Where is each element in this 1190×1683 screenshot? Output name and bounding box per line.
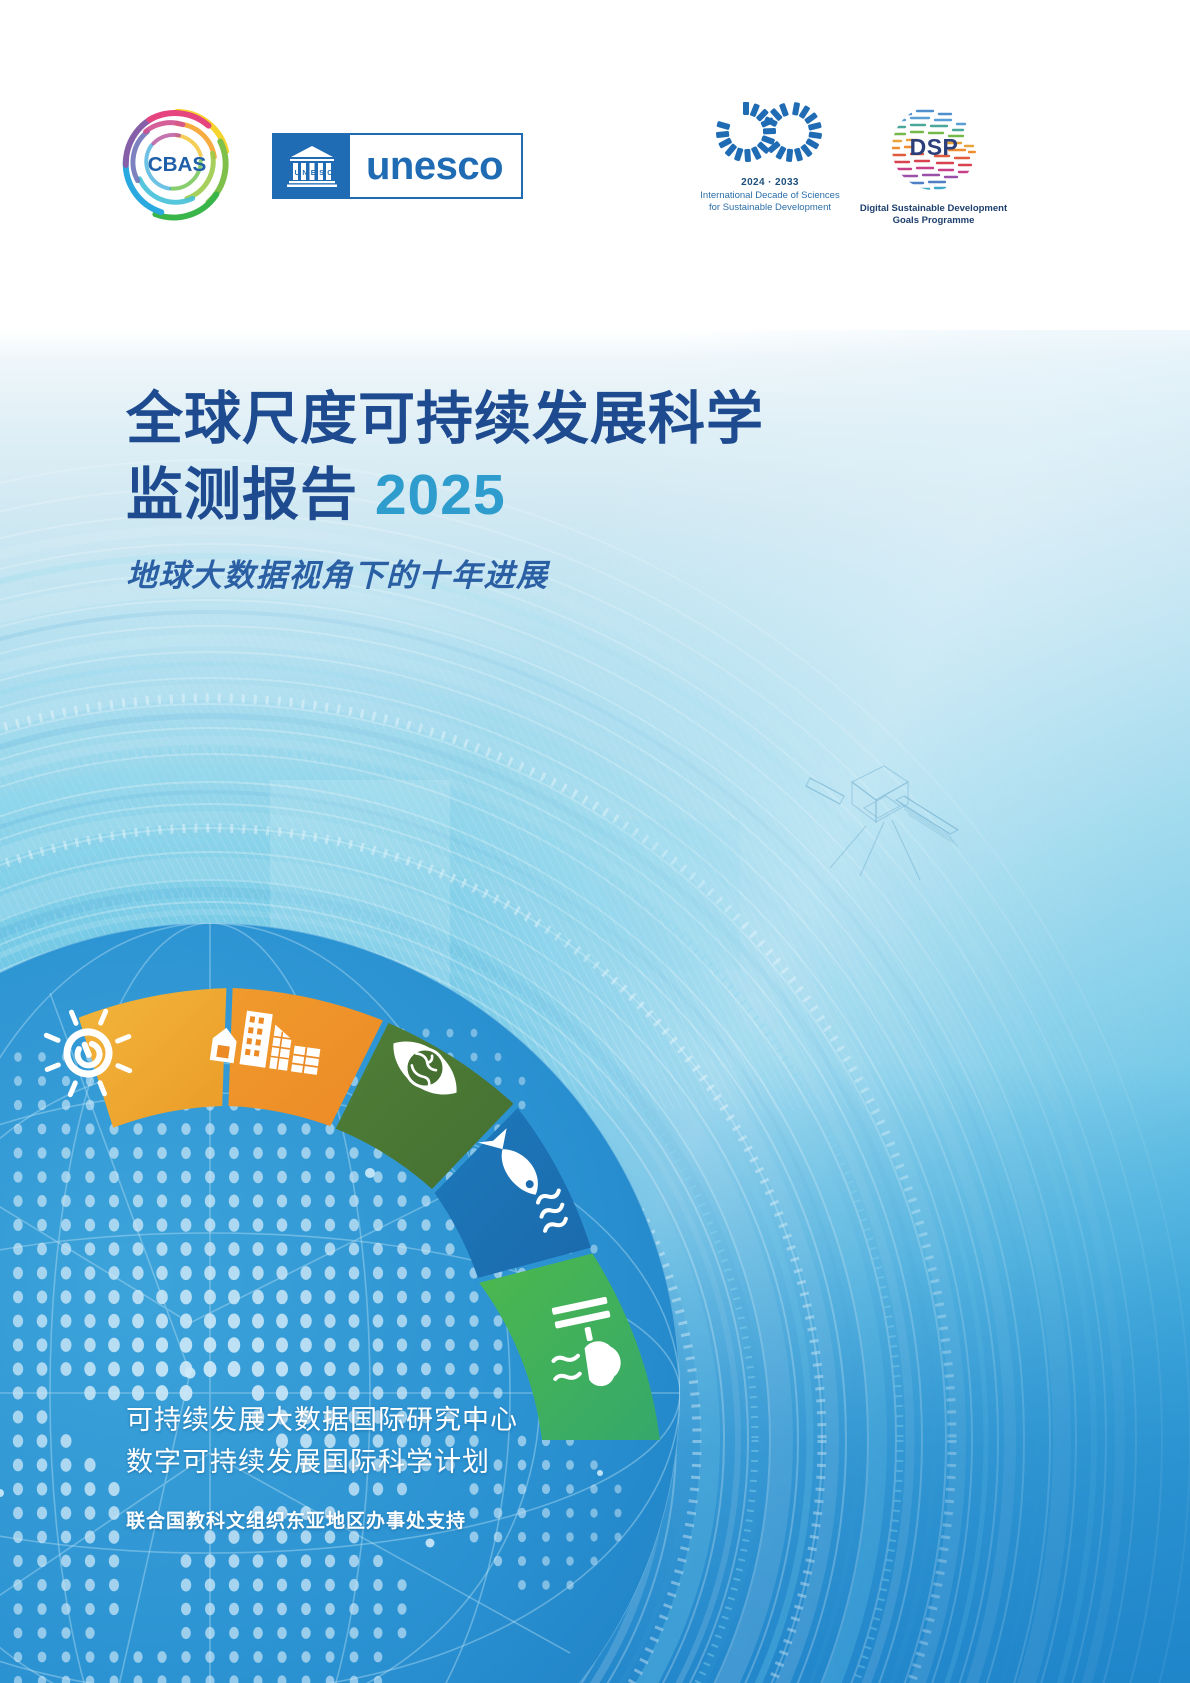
logo-bar: CBAS: [0, 0, 1190, 330]
cbas-label: CBAS: [148, 153, 207, 176]
footer-org-line2: 数字可持续发展国际科学计划: [126, 1442, 826, 1484]
page-title-year: 2025: [375, 463, 506, 527]
svg-text:C: C: [327, 170, 332, 177]
decade-infinity-rays-icon: [700, 96, 840, 168]
decade-years: 2024 · 2033: [700, 177, 840, 188]
unesco-temple-icon: UNE SC: [274, 135, 350, 197]
dsp-logo: DSP Digital Sustainable Development Goal…: [846, 100, 1021, 227]
background-bottom-blue: [0, 1063, 1190, 1683]
svg-text:U: U: [295, 170, 300, 177]
dsp-caption: Digital Sustainable Development Goals Pr…: [846, 203, 1021, 227]
page-title-line1: 全球尺度可持续发展科学: [126, 382, 1026, 458]
dsp-mark: DSP: [909, 134, 958, 160]
title-block: 全球尺度可持续发展科学 监测报告 2025 地球大数据视角下的十年进展: [126, 382, 1026, 595]
footer-block: 可持续发展大数据国际研究中心 数字可持续发展国际科学计划 联合国教科文组织东亚地…: [126, 1400, 826, 1533]
page-title-line2-text: 监测报告: [126, 463, 358, 527]
decade-caption: International Decade of Sciences for Sus…: [700, 190, 840, 213]
page-subtitle: 地球大数据视角下的十年进展: [126, 550, 1026, 595]
svg-text:N: N: [302, 170, 307, 177]
svg-text:S: S: [319, 170, 324, 177]
satellite-line-art-icon: [800, 760, 980, 900]
footer-org-line1: 可持续发展大数据国际研究中心: [126, 1400, 826, 1442]
svg-text:E: E: [311, 170, 316, 177]
decade-logo: 2024 · 2033 International Decade of Scie…: [700, 96, 840, 213]
page-title-line2: 监测报告 2025: [126, 458, 1026, 534]
unesco-wordmark: unesco: [350, 135, 521, 197]
unesco-logo: UNE SC unesco: [272, 133, 523, 199]
report-cover: CBAS: [0, 0, 1190, 1683]
dsp-globe-dashes-icon: DSP: [879, 100, 989, 200]
footer-support-line: 联合国教科文组织东亚地区办事处支持: [126, 1506, 826, 1533]
cbas-logo: CBAS: [118, 104, 236, 222]
